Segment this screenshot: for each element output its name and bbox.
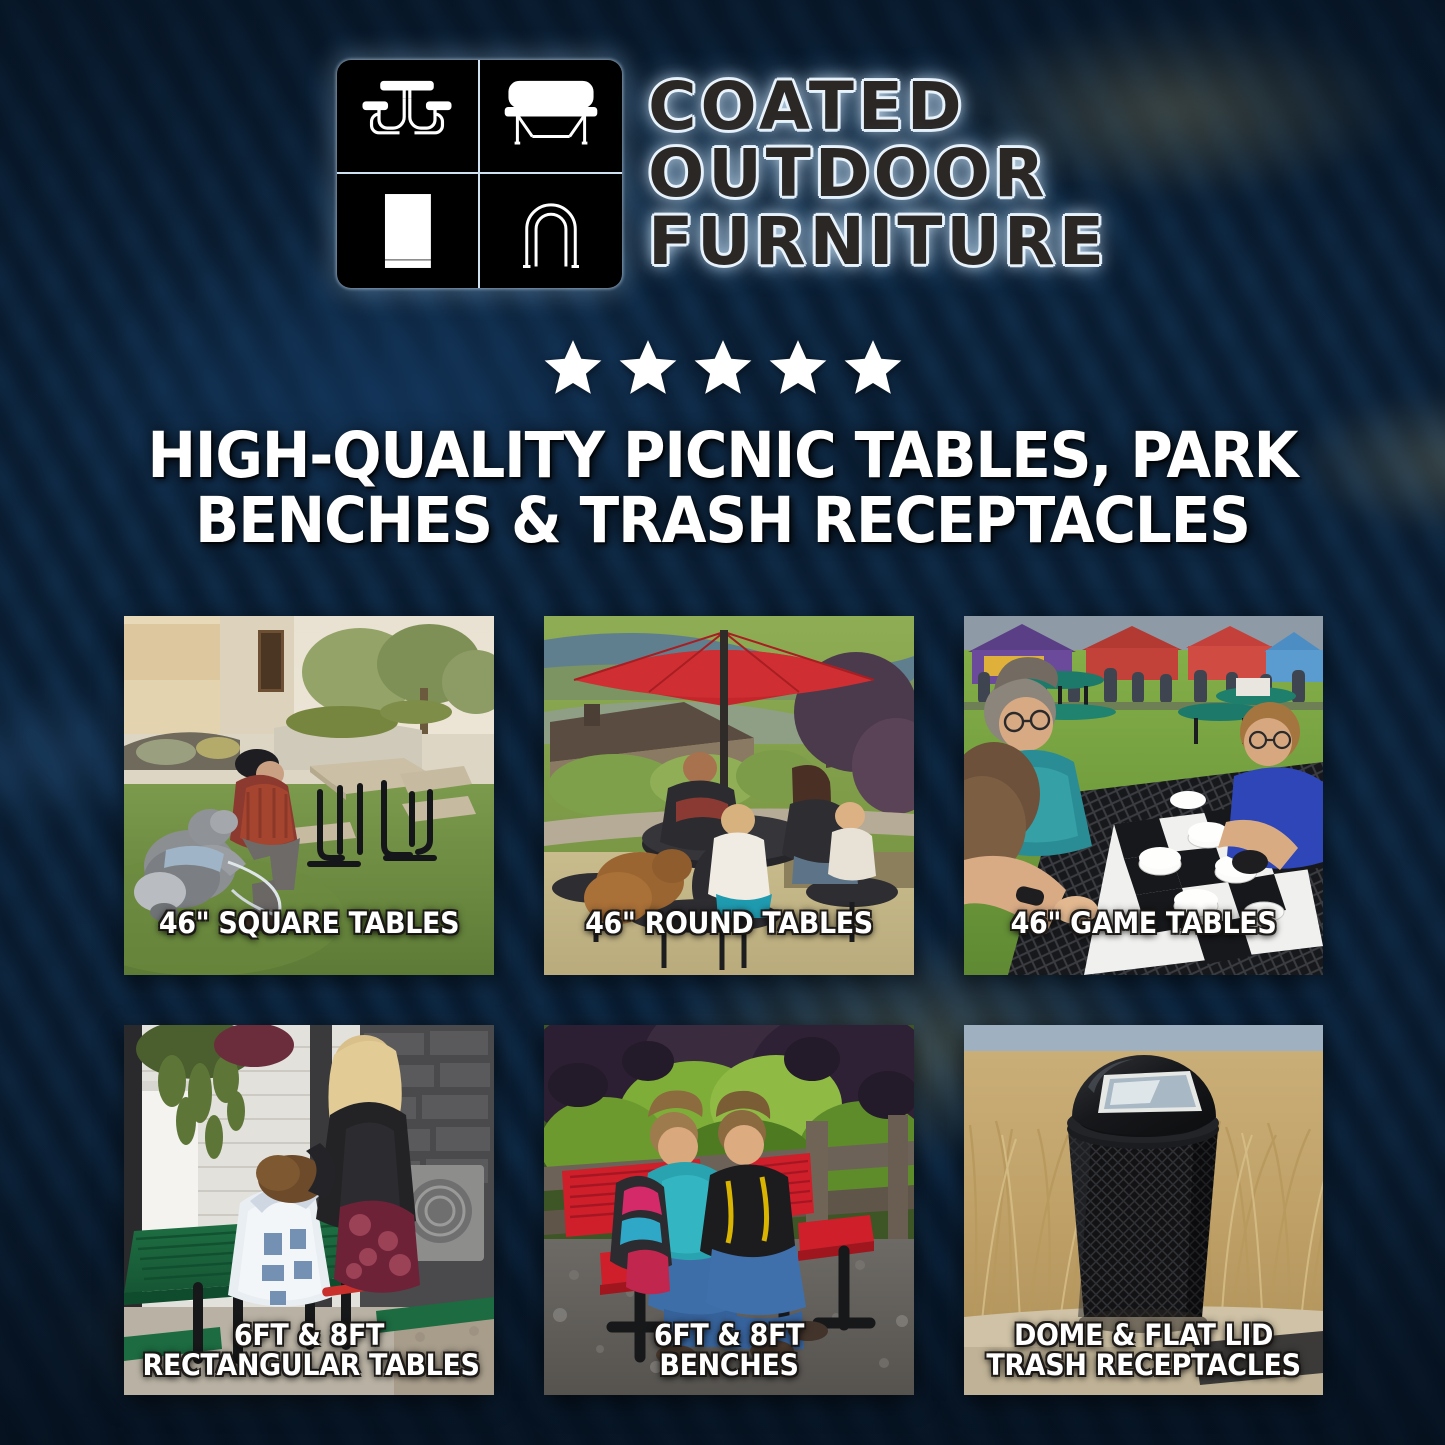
card-caption: 46" SQUARE TABLES <box>137 908 481 939</box>
product-grid: 46" SQUARE TABLES <box>124 616 1323 1395</box>
brand-logo: COATED OUTDOOR FURNITURE <box>0 60 1445 288</box>
card-caption: 46" GAME TABLES <box>977 908 1311 939</box>
caption-line: 46" SQUARE TABLES <box>143 908 476 939</box>
caption-line: 46" ROUND TABLES <box>563 908 896 939</box>
star-icon <box>617 336 679 398</box>
card-caption: 6FT & 8FT BENCHES <box>557 1320 901 1381</box>
card-caption: DOME & FLAT LID TRASH RECEPTACLES <box>977 1320 1311 1381</box>
logo-word-outdoor: OUTDOOR <box>648 141 1108 206</box>
caption-line: 46" GAME TABLES <box>982 908 1305 939</box>
card-caption: 46" ROUND TABLES <box>557 908 901 939</box>
product-card-rectangular-tables[interactable]: 6FT & 8FT RECTANGULAR TABLES <box>124 1025 494 1395</box>
caption-line: RECTANGULAR TABLES <box>143 1350 476 1381</box>
picnic-table-icon <box>337 60 480 174</box>
star-icon <box>842 336 904 398</box>
bike-rack-icon <box>480 174 623 288</box>
bench-table-icon <box>480 60 623 174</box>
page-title: HIGH-QUALITY PICNIC TABLES, PARK BENCHES… <box>58 424 1387 554</box>
trash-receptacle-icon <box>337 174 480 288</box>
product-card-round-tables[interactable]: 46" ROUND TABLES <box>544 616 914 975</box>
caption-line: DOME & FLAT LID <box>982 1320 1305 1351</box>
caption-line: 6FT & 8FT <box>563 1320 896 1351</box>
logo-word-furniture: FURNITURE <box>648 209 1108 274</box>
caption-line: 6FT & 8FT <box>143 1320 476 1351</box>
logo-word-coated: COATED <box>648 74 1108 139</box>
product-card-game-tables[interactable]: 46" GAME TABLES <box>964 616 1323 975</box>
headline-line-2: BENCHES & TRASH RECEPTACLES <box>58 489 1387 554</box>
headline-line-1: HIGH-QUALITY PICNIC TABLES, PARK <box>58 424 1387 489</box>
product-card-trash-receptacles[interactable]: DOME & FLAT LID TRASH RECEPTACLES <box>964 1025 1323 1395</box>
star-icon <box>542 336 604 398</box>
caption-line: TRASH RECEPTACLES <box>982 1350 1305 1381</box>
logo-wordmark: COATED OUTDOOR FURNITURE <box>648 74 1108 274</box>
card-caption: 6FT & 8FT RECTANGULAR TABLES <box>137 1320 481 1381</box>
caption-line: BENCHES <box>563 1350 896 1381</box>
star-rating <box>0 336 1445 398</box>
product-card-benches[interactable]: 6FT & 8FT BENCHES <box>544 1025 914 1395</box>
logo-icon-grid <box>337 60 622 288</box>
star-icon <box>767 336 829 398</box>
poster-content: COATED OUTDOOR FURNITURE HIGH-QUALITY PI… <box>0 0 1445 1445</box>
product-card-square-tables[interactable]: 46" SQUARE TABLES <box>124 616 494 975</box>
star-icon <box>692 336 754 398</box>
